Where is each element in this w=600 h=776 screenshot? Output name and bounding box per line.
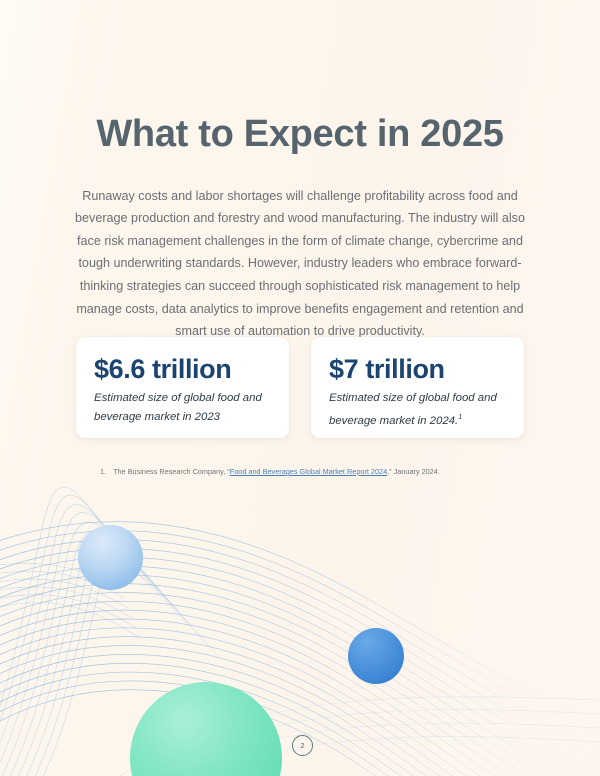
page-number-badge: 2 [292, 735, 313, 756]
light-blue-sphere [78, 525, 143, 590]
footnote-marker: 1 [458, 414, 462, 421]
green-sphere [130, 682, 282, 776]
stat-card: $7 trillion Estimated size of global foo… [311, 337, 524, 438]
stat-card-group: $6.6 trillion Estimated size of global f… [76, 337, 524, 438]
stat-value: $7 trillion [329, 354, 506, 384]
document-page: What to Expect in 2025 Runaway costs and… [0, 0, 600, 776]
footnote-number: 1. [100, 466, 106, 477]
footnote-link[interactable]: Food and Beverages Global Market Report … [230, 467, 387, 476]
stat-value: $6.6 trillion [94, 354, 271, 384]
stat-description: Estimated size of global food and bevera… [94, 389, 271, 427]
intro-paragraph: Runaway costs and labor shortages will c… [72, 185, 528, 343]
footnote-suffix: ,” January 2024. [387, 467, 440, 476]
footnote-prefix: The Business Research Company, “ [113, 467, 230, 476]
blue-sphere [348, 628, 404, 684]
footnote: 1. The Business Research Company, “Food … [100, 466, 520, 477]
page-title: What to Expect in 2025 [0, 113, 600, 156]
stat-description-text: Estimated size of global food and bevera… [94, 392, 262, 423]
stat-card: $6.6 trillion Estimated size of global f… [76, 337, 289, 438]
footnote-text: The Business Research Company, “Food and… [113, 466, 440, 477]
stat-description: Estimated size of global food and bevera… [329, 389, 506, 431]
stat-description-text: Estimated size of global food and bevera… [329, 392, 497, 427]
